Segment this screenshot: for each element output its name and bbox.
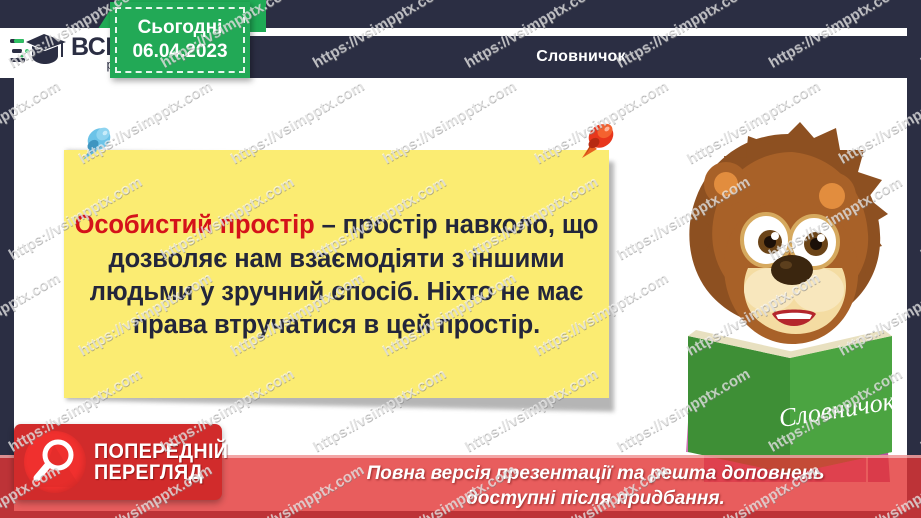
date-badge-value: 06.04.2023 bbox=[132, 41, 227, 63]
graduation-cap-icon bbox=[10, 31, 66, 76]
date-badge-label: Сьогодні bbox=[138, 17, 223, 39]
definition-term: Особистий простір bbox=[75, 211, 315, 239]
presentation-slide: Словничок Особистий простір – простір на… bbox=[0, 0, 921, 518]
preview-button-line-2: ПЕРЕГЛЯД bbox=[94, 462, 228, 484]
today-date-badge: Сьогодні 06.04.2023 bbox=[110, 2, 250, 78]
page-title: Словничок bbox=[536, 48, 626, 66]
preview-button-line-1: ПОПЕРЕДНІЙ bbox=[94, 441, 228, 463]
lion-character-illustration: Словничок bbox=[600, 122, 921, 482]
red-pushpin-icon bbox=[578, 122, 618, 167]
blue-pushpin-icon bbox=[78, 126, 114, 169]
preview-button[interactable]: ПОПЕРЕДНІЙ ПЕРЕГЛЯД bbox=[14, 424, 222, 500]
definition-text: Особистий простір – простір навколо, що … bbox=[74, 209, 599, 343]
header-bar: Словничок bbox=[241, 36, 921, 78]
definition-note: Особистий простір – простір навколо, що … bbox=[64, 150, 609, 398]
magnifier-icon bbox=[24, 431, 86, 493]
